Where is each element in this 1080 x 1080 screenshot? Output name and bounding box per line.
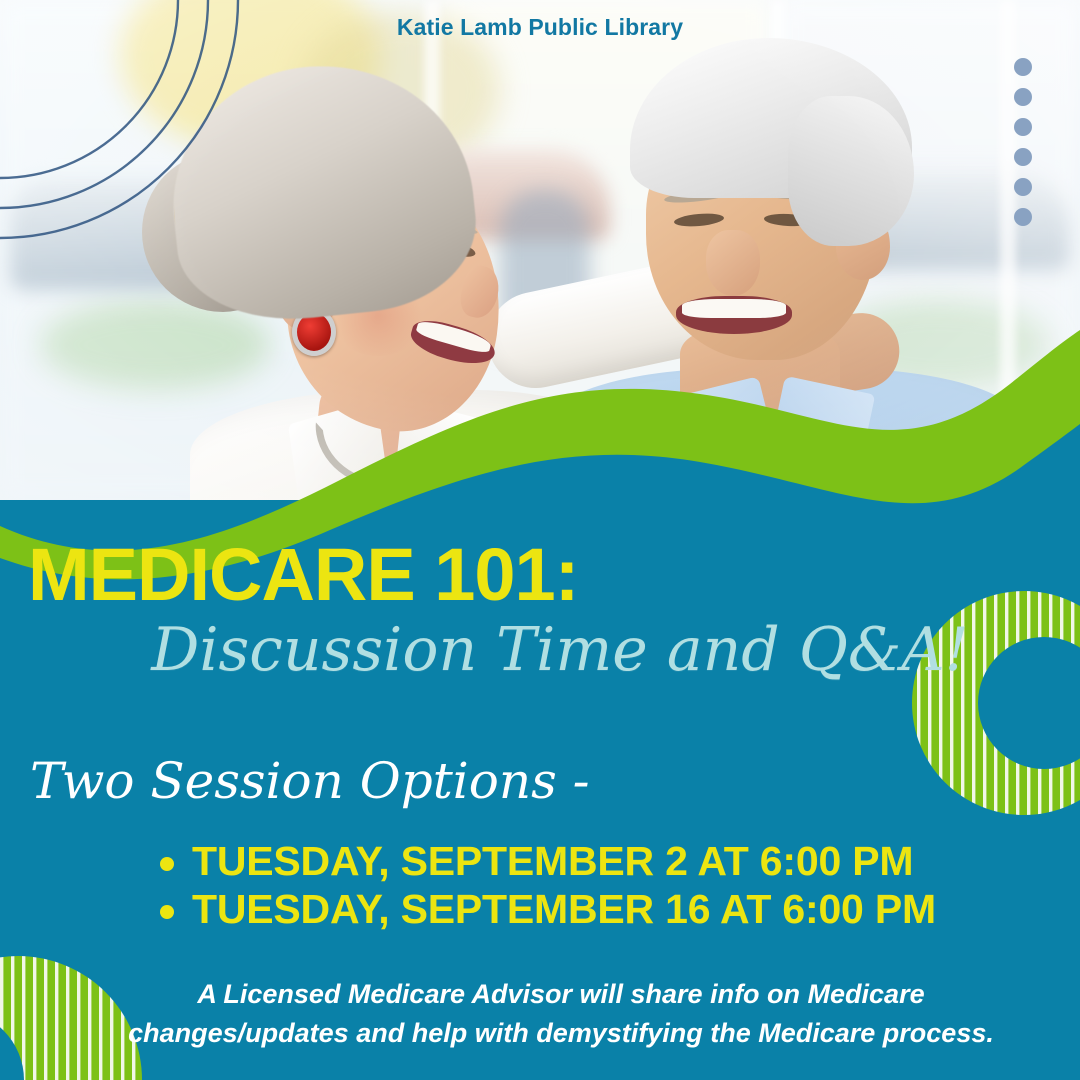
list-item: TUESDAY, SEPTEMBER 2 AT 6:00 PM <box>150 838 1050 886</box>
man-teeth <box>682 299 786 318</box>
man-hair-side <box>788 96 914 246</box>
decor-dot <box>1014 148 1032 166</box>
subtitle-script: Discussion Time and Q&A! <box>0 620 1080 680</box>
description-line-2: changes/updates and help with demystifyi… <box>56 1014 1066 1053</box>
list-item: TUESDAY, SEPTEMBER 16 AT 6:00 PM <box>150 886 1050 934</box>
concentric-arcs-decoration <box>0 0 300 280</box>
dot-column-decoration <box>1014 58 1036 238</box>
session-options-label: Two Session Options - <box>30 756 590 806</box>
description-line-1: A Licensed Medicare Advisor will share i… <box>197 979 924 1009</box>
decor-dot <box>1014 118 1032 136</box>
session-list: TUESDAY, SEPTEMBER 2 AT 6:00 PM TUESDAY,… <box>150 838 1050 933</box>
poster-canvas: Katie Lamb Public Library MEDICARE 101: … <box>0 0 1080 1080</box>
organization-title: Katie Lamb Public Library <box>0 14 1080 41</box>
decor-dot <box>1014 208 1032 226</box>
decor-dot <box>1014 88 1032 106</box>
man-nose <box>706 230 760 296</box>
description-text: A Licensed Medicare Advisor will share i… <box>56 975 1066 1053</box>
man-mouth <box>676 296 792 334</box>
decor-dot <box>1014 178 1032 196</box>
decor-dot <box>1014 58 1032 76</box>
page-title: MEDICARE 101: <box>28 538 578 612</box>
